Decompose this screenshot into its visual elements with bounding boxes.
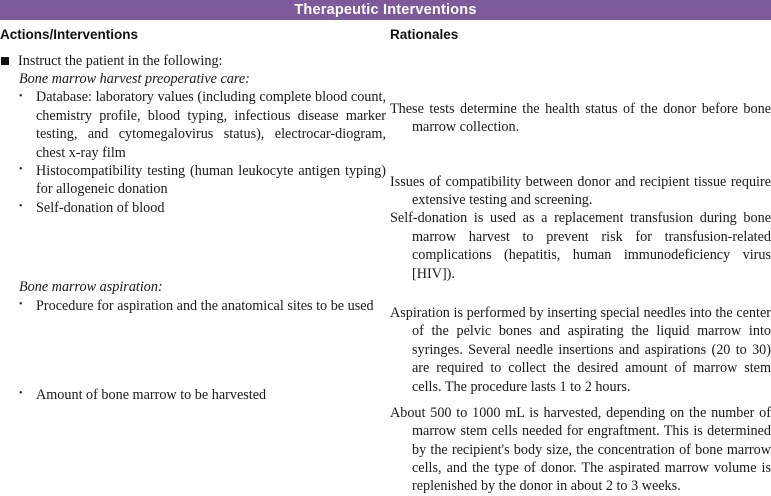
page-title: Therapeutic Interventions (294, 3, 476, 18)
list-item: Database: laboratory values (including c… (0, 88, 386, 162)
lead-in-text: Instruct the patient in the following: (18, 52, 223, 70)
rationale-paragraph: Issues of compatibility between donor an… (390, 173, 771, 210)
right-gap-2 (390, 283, 771, 304)
aspiration-list-a: Procedure for aspiration and the anatomi… (0, 297, 386, 315)
rationale-paragraph: Aspiration is performed by inserting spe… (390, 304, 771, 396)
rationale-paragraph: Self-donation is used as a replacement t… (390, 209, 771, 283)
square-bullet-icon (1, 57, 9, 65)
left-gap-1 (0, 217, 386, 278)
list-item: Self-donation of blood (0, 199, 386, 217)
harvest-preop-list: Database: laboratory values (including c… (0, 88, 386, 217)
section-heading-aspiration: Bone marrow aspiration: (19, 278, 386, 296)
list-item: Histocompatibility testing (human leukoc… (0, 162, 386, 199)
aspiration-list-b: Amount of bone marrow to be harvested (0, 386, 386, 404)
lead-in-row: Instruct the patient in the following: (0, 52, 386, 70)
rationale-paragraph: About 500 to 1000 mL is harvested, depen… (390, 404, 771, 496)
page-title-bar: Therapeutic Interventions (0, 0, 771, 20)
list-item: Procedure for aspiration and the anatomi… (0, 297, 386, 315)
right-gap-3 (390, 396, 771, 404)
section-heading-harvest-preop: Bone marrow harvest preoperative care: (19, 70, 386, 88)
two-column-table: Actions/Interventions Instruct the patie… (0, 20, 771, 496)
right-gap-0 (390, 52, 771, 100)
left-gap-2 (0, 315, 386, 386)
rationales-column-heading: Rationales (390, 28, 771, 43)
actions-column-heading: Actions/Interventions (0, 28, 386, 43)
list-item: Amount of bone marrow to be harvested (0, 386, 386, 404)
rationales-column: Rationales These tests determine the hea… (390, 28, 771, 496)
rationale-paragraph: These tests determine the health status … (390, 100, 771, 137)
actions-interventions-column: Actions/Interventions Instruct the patie… (0, 28, 390, 496)
right-gap-1 (390, 137, 771, 173)
